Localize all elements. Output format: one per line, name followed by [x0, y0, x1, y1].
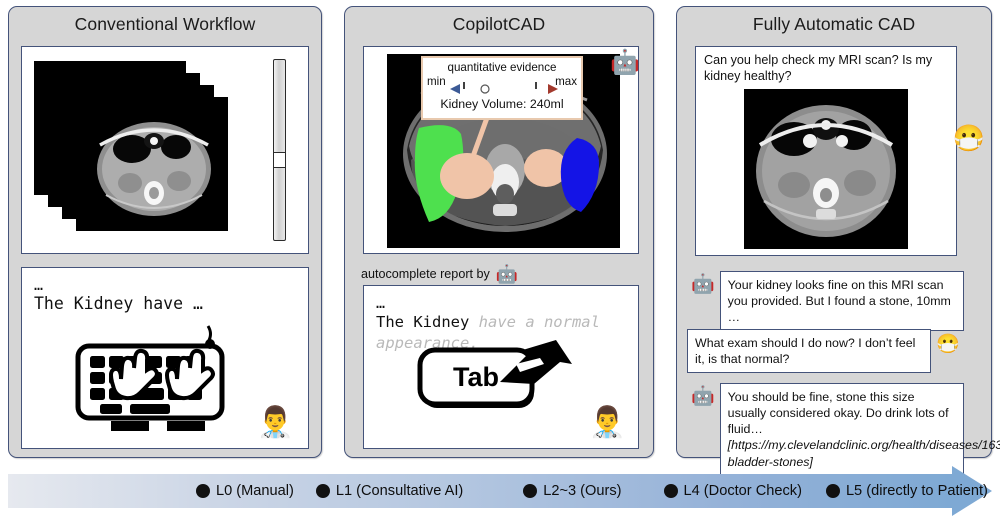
scale-min-label: min [427, 75, 446, 88]
slice-slider[interactable] [273, 59, 286, 241]
figure-root: Conventional Workflow [0, 0, 1000, 526]
doctor-emoji: 👨‍⚕️ [257, 408, 294, 438]
level-label: L1 (Consultative AI) [336, 483, 463, 499]
tooltip-title: quantitative evidence [423, 61, 581, 74]
ct-slice-active [76, 97, 228, 231]
quantitative-evidence-tooltip: quantitative evidence min max [421, 56, 583, 120]
kidney-volume-value: Kidney Volume: 240ml [423, 97, 581, 111]
robot-emoji: 🤖 [496, 265, 518, 283]
level-item-l5[interactable]: L5 (directly to Patient) [826, 483, 988, 499]
ct-image-patient[interactable] [744, 89, 908, 249]
panel-conventional-workflow: Conventional Workflow [8, 6, 322, 458]
panel-title-fully-automatic: Fully Automatic CAD [677, 7, 991, 39]
report-ellipsis: … [376, 294, 630, 312]
ct-viewer-copilotcad: quantitative evidence min max [363, 46, 639, 254]
patient-emoji: 😷 [936, 335, 960, 354]
keyboard-hands-svg [70, 320, 240, 438]
ct-image-icon [76, 97, 228, 231]
level-item-l4[interactable]: L4 (Doctor Check) [664, 483, 802, 499]
tab-accept-icon[interactable]: Tab [416, 338, 584, 426]
level-label: L0 (Manual) [216, 483, 294, 499]
report-typed-text: The Kidney have … [34, 294, 203, 313]
level-item-l2-3[interactable]: L2~3 (Ours) [523, 483, 621, 499]
report-editor-copilot[interactable]: … The Kidney have a normal appearance. T… [363, 285, 639, 449]
chat-bubble: What exam should I do now? I don’t feel … [687, 329, 931, 373]
doctor-emoji: 👨‍⚕️ [589, 408, 626, 438]
level-label: L2~3 (Ours) [543, 483, 621, 499]
keyboard-hands-icon [70, 320, 240, 438]
patient-question-text: Can you help check my MRI scan? Is my ki… [696, 47, 956, 84]
level-dot-icon [196, 484, 210, 498]
level-dot-icon [826, 484, 840, 498]
report-typed-text: The Kidney [376, 313, 479, 331]
chat-bubble-text: You should be fine, stone this size usua… [728, 390, 949, 436]
panel-title-conventional: Conventional Workflow [9, 7, 321, 39]
level-dot-icon [664, 484, 678, 498]
chat-message-assistant-2: 🤖 You should be fine, stone this size us… [691, 383, 981, 476]
robot-emoji: 🤖 [691, 387, 715, 406]
panel-title-copilotcad: CopilotCAD [345, 7, 653, 39]
robot-emoji: 🤖 [691, 275, 715, 294]
level-dot-icon [316, 484, 330, 498]
evidence-scale: min max [423, 74, 581, 95]
ct-viewer-conventional [21, 46, 309, 254]
autonomy-level-arrow: L0 (Manual) L1 (Consultative AI) L2~3 (O… [8, 474, 992, 508]
level-label: L4 (Doctor Check) [684, 483, 802, 499]
patient-emoji: 😷 [953, 125, 985, 151]
autocomplete-label-row: autocomplete report by 🤖 [361, 265, 518, 283]
panel-fully-automatic-cad: Fully Automatic CAD Can you help check m… [676, 6, 992, 458]
level-list: L0 (Manual) L1 (Consultative AI) L2~3 (O… [8, 474, 992, 508]
report-ellipsis: … [34, 276, 203, 294]
chat-bubble: You should be fine, stone this size usua… [720, 383, 964, 476]
level-label: L5 (directly to Patient) [846, 483, 988, 499]
chat-bubble-url[interactable]: [https://my.clevelandclinic.org/health/d… [728, 438, 1000, 468]
slice-slider-thumb[interactable] [273, 152, 286, 168]
panel-copilotcad: CopilotCAD [344, 6, 654, 458]
ct-slice-stack[interactable] [34, 57, 229, 245]
report-editor-conventional[interactable]: … The Kidney have … [21, 267, 309, 449]
scale-max-label: max [555, 75, 577, 88]
scale-arrow-icon [450, 81, 558, 97]
chat-message-patient-1: What exam should I do now? I don’t feel … [687, 329, 987, 373]
ct-image-icon [744, 89, 908, 249]
level-item-l1[interactable]: L1 (Consultative AI) [316, 483, 463, 499]
robot-emoji: 🤖 [610, 51, 640, 75]
autocomplete-label: autocomplete report by [361, 267, 490, 281]
chat-bubble: Your kidney looks fine on this MRI scan … [720, 271, 964, 331]
tab-key-svg: Tab [416, 338, 584, 426]
patient-question-card: Can you help check my MRI scan? Is my ki… [695, 46, 957, 256]
chat-message-assistant-1: 🤖 Your kidney looks fine on this MRI sca… [691, 271, 981, 331]
level-dot-icon [523, 484, 537, 498]
level-item-l0[interactable]: L0 (Manual) [196, 483, 294, 499]
tab-key-label: Tab [453, 362, 499, 392]
